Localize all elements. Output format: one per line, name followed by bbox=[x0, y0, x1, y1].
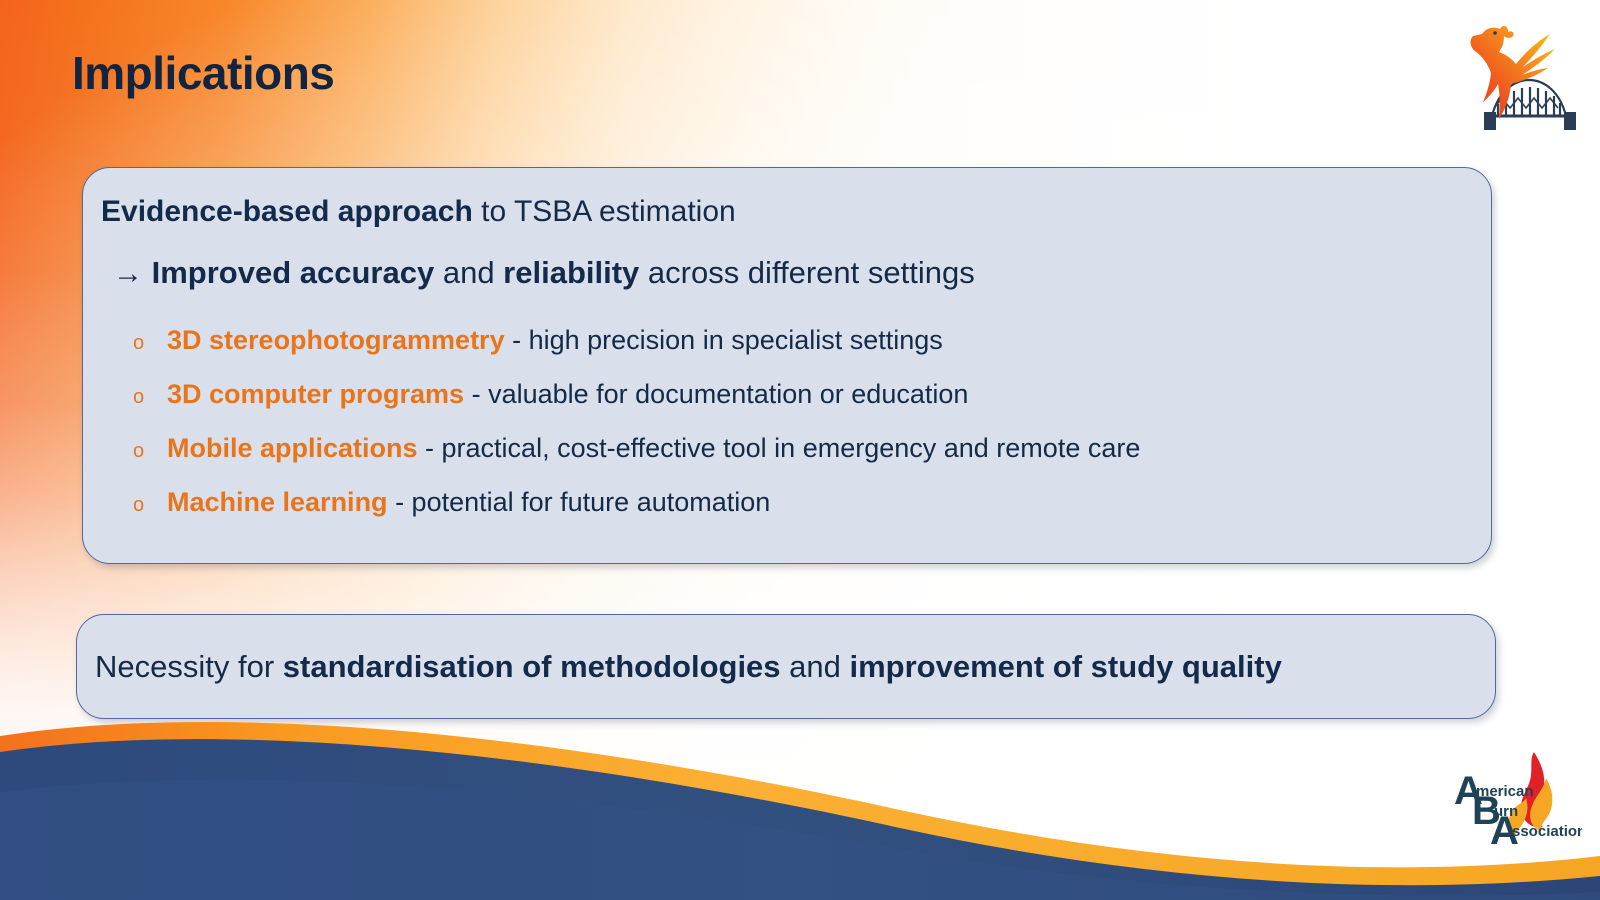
bullet-marker-icon: o bbox=[133, 387, 167, 407]
statement-line-1: Evidence-based approach to TSBA estimati… bbox=[101, 195, 736, 229]
statement-line-2-rest: across different settings bbox=[639, 255, 974, 290]
footer-bold-1: standardisation of methodologies bbox=[283, 649, 781, 684]
list-item: o Mobile applications - practical, cost-… bbox=[133, 433, 1473, 487]
list-item-detail: - practical, cost-effective tool in emer… bbox=[418, 433, 1141, 463]
list-item-text: Machine learning - potential for future … bbox=[167, 487, 770, 518]
list-item-term: 3D stereophotogrammetry bbox=[167, 325, 505, 355]
bullet-marker-icon: o bbox=[133, 441, 167, 461]
list-item-text: 3D computer programs - valuable for docu… bbox=[167, 379, 968, 410]
footer-wave-decoration bbox=[0, 700, 1600, 900]
bullet-marker-icon: o bbox=[133, 333, 167, 353]
statement-line-2-bold-1: Improved accuracy bbox=[152, 255, 435, 290]
footer-statement: Necessity for standardisation of methodo… bbox=[77, 649, 1282, 685]
main-content-box: Evidence-based approach to TSBA estimati… bbox=[82, 167, 1492, 564]
statement-line-2-bold-2: reliability bbox=[503, 255, 639, 290]
statement-line-1-rest: to TSBA estimation bbox=[473, 195, 736, 228]
right-arrow-icon: → bbox=[113, 257, 143, 290]
list-item-term: Mobile applications bbox=[167, 433, 418, 463]
list-item-term: Machine learning bbox=[167, 487, 388, 517]
aba-line-1: merican bbox=[1476, 783, 1534, 800]
aba-line-3: ssociation bbox=[1512, 823, 1582, 840]
page-title: Implications bbox=[72, 48, 334, 99]
bullet-list: o 3D stereophotogrammetry - high precisi… bbox=[133, 325, 1473, 541]
list-item: o 3D stereophotogrammetry - high precisi… bbox=[133, 325, 1473, 379]
footer-part-1: Necessity for bbox=[95, 649, 283, 684]
list-item-text: Mobile applications - practical, cost-ef… bbox=[167, 433, 1140, 464]
list-item-term: 3D computer programs bbox=[167, 379, 464, 409]
aba-line-2: urn bbox=[1494, 803, 1518, 820]
list-item: o 3D computer programs - valuable for do… bbox=[133, 379, 1473, 433]
statement-line-2: → Improved accuracy and reliability acro… bbox=[113, 255, 975, 291]
statement-line-2-mid: and bbox=[434, 255, 503, 290]
list-item-detail: - valuable for documentation or educatio… bbox=[464, 379, 968, 409]
liver-bird-bridge-icon bbox=[1442, 8, 1578, 136]
list-item-text: 3D stereophotogrammetry - high precision… bbox=[167, 325, 943, 356]
footer-mid: and bbox=[781, 649, 850, 684]
footer-bold-2: improvement of study quality bbox=[850, 649, 1282, 684]
list-item-detail: - potential for future automation bbox=[388, 487, 771, 517]
list-item-detail: - high precision in specialist settings bbox=[505, 325, 943, 355]
statement-line-1-bold: Evidence-based approach bbox=[101, 195, 473, 228]
bullet-marker-icon: o bbox=[133, 495, 167, 515]
list-item: o Machine learning - potential for futur… bbox=[133, 487, 1473, 541]
slide-root: Implications bbox=[0, 0, 1600, 900]
american-burn-association-icon: A B A merican urn ssociation bbox=[1442, 748, 1582, 852]
